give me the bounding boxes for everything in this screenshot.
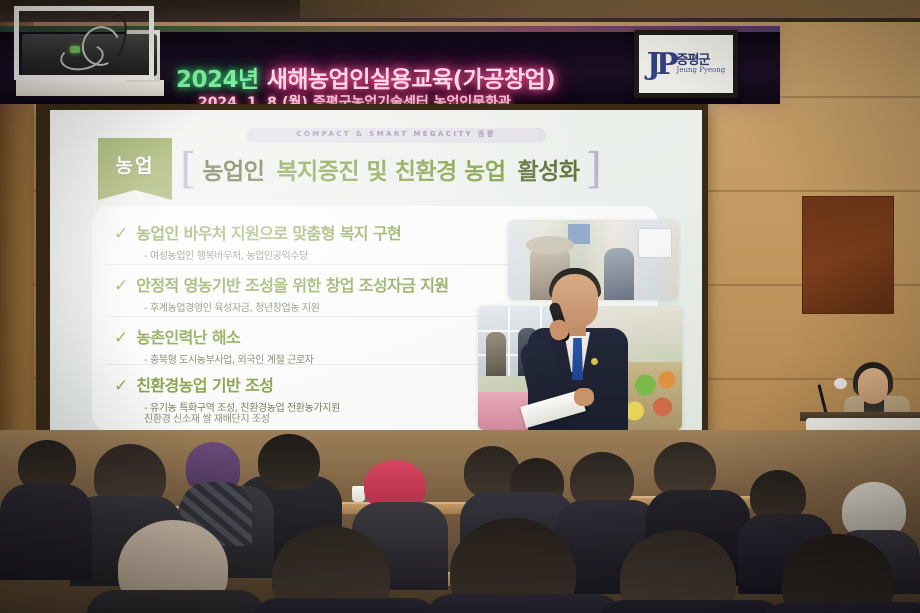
check-icon: ✓ (114, 330, 128, 347)
projector-mount (16, 80, 164, 96)
presenter-tie (572, 338, 583, 380)
wall-sign-roman: Jeung Pyeong (677, 67, 726, 74)
slide-bullet-sub: - 여성농업인 행복바우처, 농업인공익수당 (144, 247, 544, 262)
moderator-head (858, 368, 888, 404)
wall-recessed-panel (802, 196, 894, 314)
lapel-pin-icon (591, 358, 598, 365)
led-banner-line-2: 2024. 1. 8.(월)증평군농업기술센터 농업인문화관 (198, 92, 511, 104)
audience-member-torso-foreground (250, 598, 440, 613)
slide-bullet-title: 농업인 바우처 지원으로 맞춤형 복지 구현 (136, 220, 401, 244)
slide-title-part-2: 복지증진 및 친환경 농업 (276, 152, 505, 186)
microphone-icon (834, 378, 847, 389)
audience-member-torso-foreground (424, 594, 624, 613)
slide-extra-line: 친환경 신소재 쌀 재배단지 조성 (144, 410, 270, 425)
photo-person (486, 332, 506, 376)
led-banner-venue: 증평군농업기술센터 농업인문화관 (313, 95, 511, 104)
slide-tagline: COMPACT & SMART MEGACITY 증평 (246, 129, 546, 139)
projector-security-cage (14, 6, 154, 80)
audience-member-torso-foreground (760, 602, 920, 613)
wall-sign-frame: JP 증평군 Jeung Pyeong (634, 30, 738, 98)
presenter-hand (574, 388, 594, 406)
led-banner-line-1: 2024년새해농업인실용교육(가공창업) (176, 60, 555, 94)
slide-bullet-title: 친환경농업 기반 조성 (136, 372, 273, 396)
audience-member-head (258, 434, 320, 490)
slide-bullet-head: ✓ 안정적 영농기반 조성을 위한 창업 조성자금 지원 (114, 272, 544, 296)
audience-member-torso-foreground (596, 600, 786, 613)
photo-window-mullion (508, 306, 510, 376)
slide-section-badge: 농업 (98, 138, 172, 190)
led-banner-title: 새해농업인실용교육(가공창업) (267, 67, 556, 93)
photo-person-hat (526, 236, 574, 254)
slide-bullet-head: ✓ 농업인 바우처 지원으로 맞춤형 복지 구현 (114, 220, 544, 244)
check-icon: ✓ (114, 278, 128, 295)
slide-bullet-title: 안정적 영농기반 조성을 위한 창업 조성자금 지원 (136, 272, 448, 296)
photo-detail (638, 228, 672, 258)
wall-sign-text: 증평군 Jeung Pyeong (677, 54, 726, 74)
lecture-hall-photo: 2024년새해농업인실용교육(가공창업) 2024. 1. 8.(월)증평군농업… (0, 0, 920, 613)
slide-section-badge-label: 농업 (116, 151, 155, 178)
jp-logo-icon: JP (647, 51, 674, 78)
ceiling-strip (300, 0, 920, 18)
bracket-right-icon: ] (585, 150, 601, 188)
bullet-divider (106, 264, 546, 265)
slide-title-part-1: 농업인 (202, 152, 264, 186)
slide-bullet: ✓ 농업인 바우처 지원으로 맞춤형 복지 구현 - 여성농업인 행복바우처, … (114, 220, 544, 262)
slide-title-part-3: 활성화 (518, 152, 580, 186)
audience-member-torso (0, 484, 92, 580)
bracket-left-icon: [ (180, 150, 196, 188)
slide-bullet-title: 농촌인력난 해소 (136, 324, 240, 348)
check-icon: ✓ (114, 226, 128, 243)
audience-area (0, 430, 920, 613)
audience-member-torso-foreground (86, 590, 266, 613)
led-banner-year: 2024년 (176, 67, 259, 93)
ceiling-projector (8, 4, 168, 100)
led-banner-date: 2024. 1. 8.(월) (198, 95, 308, 104)
slide-title-row: [ 농업인 복지증진 및 친환경 농업 활성화 ] (180, 146, 680, 192)
wall-sign: JP 증평군 Jeung Pyeong (639, 35, 733, 93)
check-icon: ✓ (114, 378, 128, 395)
